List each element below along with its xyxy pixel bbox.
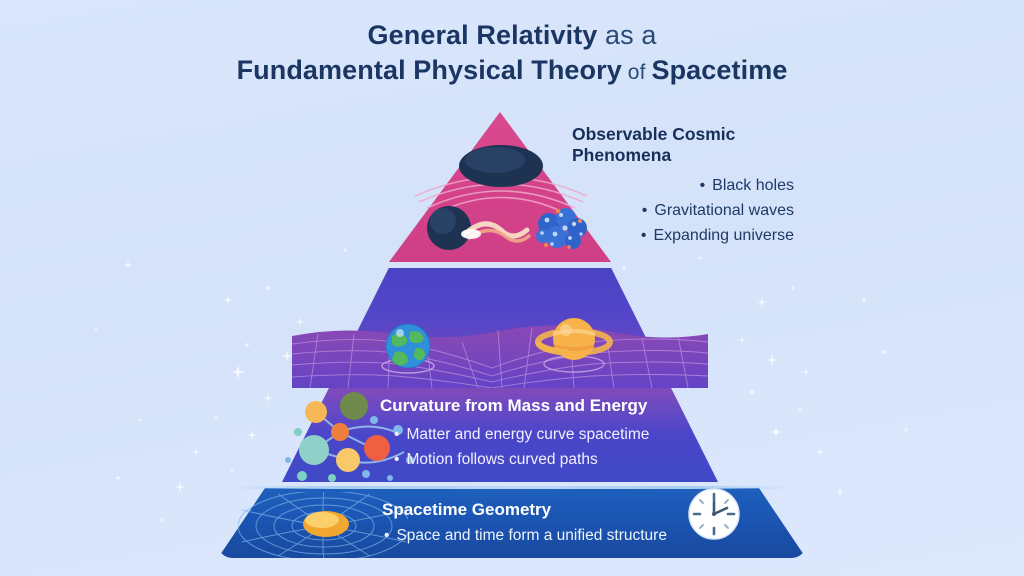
sparkle-icon <box>757 297 767 307</box>
list-item: Motion follows curved paths <box>394 447 649 472</box>
sparkle-icon <box>264 394 273 403</box>
page-title: General Relativity as a Fundamental Phys… <box>0 18 1024 88</box>
sparkle-icon <box>244 342 251 349</box>
sparkle-icon <box>747 387 757 397</box>
list-item: Gravitational waves <box>572 198 794 223</box>
sparkle-icon <box>114 474 122 482</box>
title-line2-bold-a: Fundamental Physical Theory <box>237 55 622 85</box>
title-line2-bold-b: Spacetime <box>651 55 787 85</box>
list-item: Expanding universe <box>572 223 794 248</box>
sparkle-icon <box>137 417 143 423</box>
sparkle-icon <box>175 482 186 493</box>
sparkle-icon <box>738 336 746 344</box>
sparkle-icon <box>93 327 100 334</box>
list-item: Black holes <box>572 173 794 198</box>
tier-bot-heading: Spacetime Geometry <box>382 500 667 521</box>
sparkle-icon <box>264 284 272 292</box>
tier-top-heading-line2: Phenomena <box>572 145 842 166</box>
saturn-planet-icon <box>534 308 614 378</box>
sparkle-icon <box>861 297 868 304</box>
sparkle-icon <box>192 448 200 456</box>
sparkle-icon <box>697 255 703 261</box>
binary-merger-icon <box>423 204 535 252</box>
title-line-2: Fundamental Physical Theory of Spacetime <box>0 53 1024 88</box>
list-item: Matter and energy curve spacetime <box>394 422 649 447</box>
infographic-canvas: General Relativity as a Fundamental Phys… <box>0 0 1024 576</box>
tier-top-heading: Observable Cosmic Phenomena <box>572 124 842 167</box>
sparkle-icon <box>159 517 166 524</box>
sparkle-icon <box>342 247 348 253</box>
sparkle-icon <box>816 448 824 456</box>
sparkle-icon <box>229 467 235 473</box>
title-line2-light: of <box>622 61 652 84</box>
sparkle-icon <box>247 430 257 440</box>
tier-bot-bullets: Space and time form a unified structure <box>382 524 667 547</box>
list-item: Space and time form a unified structure <box>384 524 667 547</box>
sparkle-icon <box>790 285 797 292</box>
tier-mid-heading: Curvature from Mass and Energy <box>380 396 649 417</box>
title-line-1: General Relativity as a <box>0 18 1024 53</box>
clock-icon <box>686 486 742 542</box>
tier-top-text-block: Observable Cosmic Phenomena Black holes … <box>572 124 842 248</box>
sparkle-icon <box>836 488 845 497</box>
earth-planet-icon <box>378 316 438 376</box>
tier-top-bullets: Black holes Gravitational waves Expandin… <box>572 173 842 249</box>
sparkle-icon <box>766 354 779 367</box>
tier-top-heading-line1: Observable Cosmic <box>572 124 842 145</box>
sparkle-icon <box>213 415 220 422</box>
title-line1-bold: General Relativity <box>368 20 598 50</box>
sparkle-icon <box>231 365 246 380</box>
sparkle-icon <box>797 407 804 414</box>
spacetime-grid-icon <box>292 320 708 388</box>
title-line1-light: as a <box>597 20 656 50</box>
sparkle-icon <box>802 368 810 376</box>
sparkle-icon <box>903 427 910 434</box>
sparkle-icon <box>880 348 888 356</box>
tier-bot-text-block: Spacetime Geometry Space and time form a… <box>382 500 667 547</box>
sparkle-icon <box>770 426 782 438</box>
sparkle-icon <box>124 261 133 270</box>
sparkle-icon <box>223 295 234 306</box>
tier-mid-bullets: Matter and energy curve spacetime Motion… <box>380 422 649 472</box>
tier-mid-text-block: Curvature from Mass and Energy Matter an… <box>380 396 649 472</box>
black-hole-icon <box>455 142 547 190</box>
